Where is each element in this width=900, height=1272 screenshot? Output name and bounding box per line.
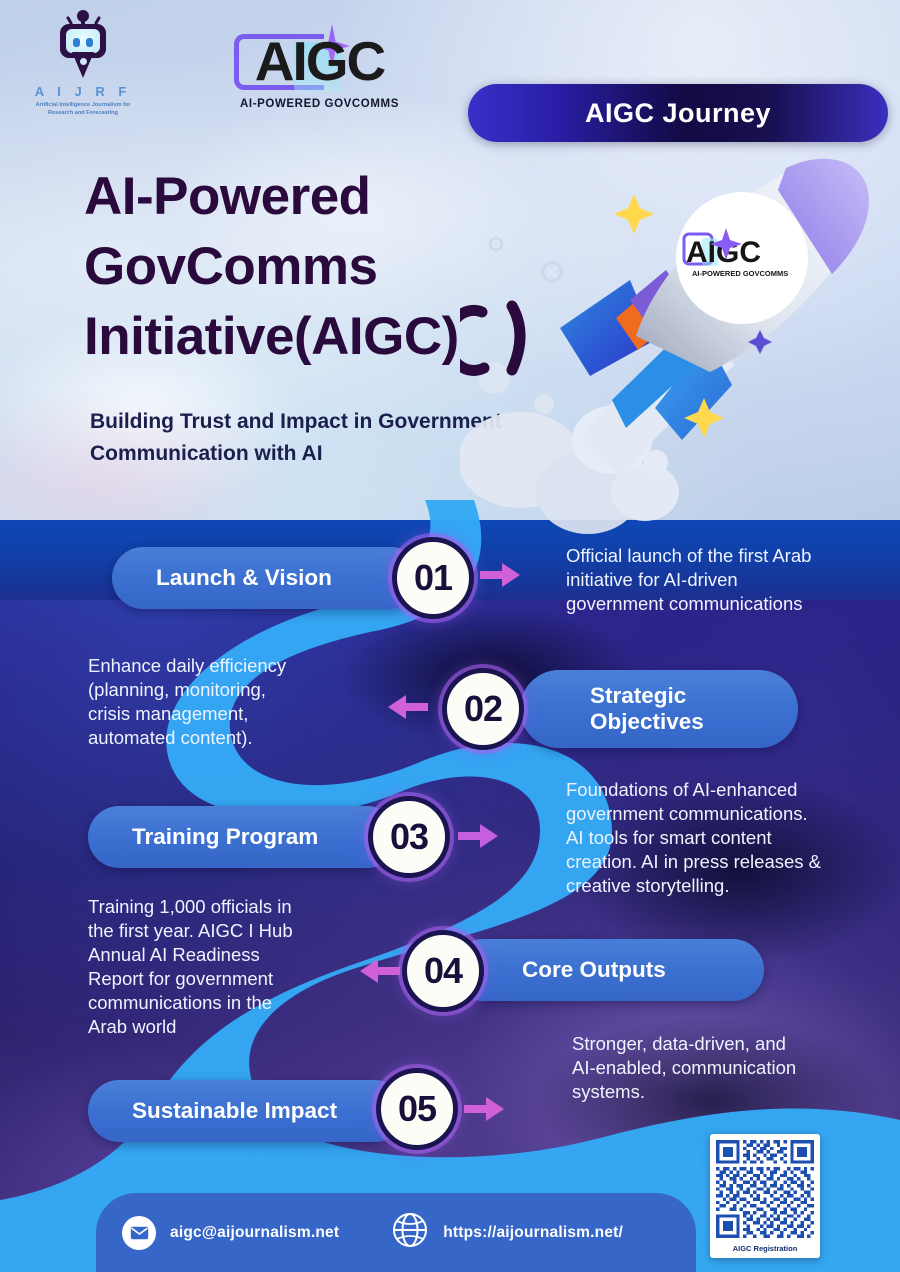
step-number-05[interactable]: 05 [376,1068,458,1150]
aigc-logo-text: AIGC [232,28,407,96]
qr-code-image [716,1140,814,1238]
arrow-left-icon-04 [360,958,400,984]
arrow-right-icon-03 [458,823,498,849]
aijrf-subtitle: Artificial Intelligence Journalism for R… [24,101,142,118]
contact-footer: aigc@aijournalism.net https://aijournali… [96,1193,696,1272]
step-number-04[interactable]: 04 [402,930,484,1012]
globe-icon [391,1211,429,1254]
step-number-02[interactable]: 02 [442,668,524,750]
envelope-icon [122,1216,156,1250]
aijrf-logo: A I J R F Artificial Intelligence Journa… [24,12,142,118]
step-label-01: Launch & Vision [156,565,332,591]
aigc-logo: AIGC AI-POWERED GOVCOMMS [232,28,407,110]
aigc-logo-caption: AI-POWERED GOVCOMMS [232,98,407,110]
qr-code-label: AIGC Registration [716,1244,814,1253]
step-description-03: Foundations of AI-enhanced government co… [566,778,822,898]
step-label-05: Sustainable Impact [132,1098,337,1124]
arrow-right-icon-01 [480,562,520,588]
website-text: https://aijournalism.net/ [443,1224,623,1242]
rocket-illustration: AIGC AI-POWERED GOVCOMMS [460,140,900,540]
step-description-04: Training 1,000 officials in the first ye… [88,895,304,1039]
step-pill-04[interactable]: Core Outputs [452,939,764,1001]
step-label-02: Strategic Objectives [590,683,760,735]
step-description-05: Stronger, data-driven, and AI-enabled, c… [572,1032,812,1104]
robot-pen-icon [52,12,114,78]
step-pill-02[interactable]: Strategic Objectives [520,670,798,748]
qr-code-block[interactable]: AIGC Registration [710,1134,820,1258]
step-label-04: Core Outputs [522,957,666,983]
step-label-03: Training Program [132,824,318,850]
step-pill-05[interactable]: Sustainable Impact [88,1080,406,1142]
step-description-01: Official launch of the first Arab initia… [566,544,826,616]
step-number-03[interactable]: 03 [368,796,450,878]
email-text: aigc@aijournalism.net [170,1224,339,1242]
website-contact[interactable]: https://aijournalism.net/ [391,1211,623,1254]
journey-badge: AIGC Journey [468,84,888,142]
svg-text:AI-POWERED GOVCOMMS: AI-POWERED GOVCOMMS [692,269,788,278]
step-number-01[interactable]: 01 [392,537,474,619]
email-contact[interactable]: aigc@aijournalism.net [122,1216,339,1250]
step-pill-01[interactable]: Launch & Vision [112,547,422,609]
step-pill-03[interactable]: Training Program [88,806,398,868]
infographic-poster: A I J R F Artificial Intelligence Journa… [0,0,900,1272]
arrow-left-icon-02 [388,694,428,720]
aijrf-acronym: A I J R F [24,84,142,99]
page-subtitle: Building Trust and Impact in Government … [90,406,510,470]
arrow-right-icon-05 [464,1096,504,1122]
step-description-02: Enhance daily efficiency (planning, moni… [88,654,308,750]
